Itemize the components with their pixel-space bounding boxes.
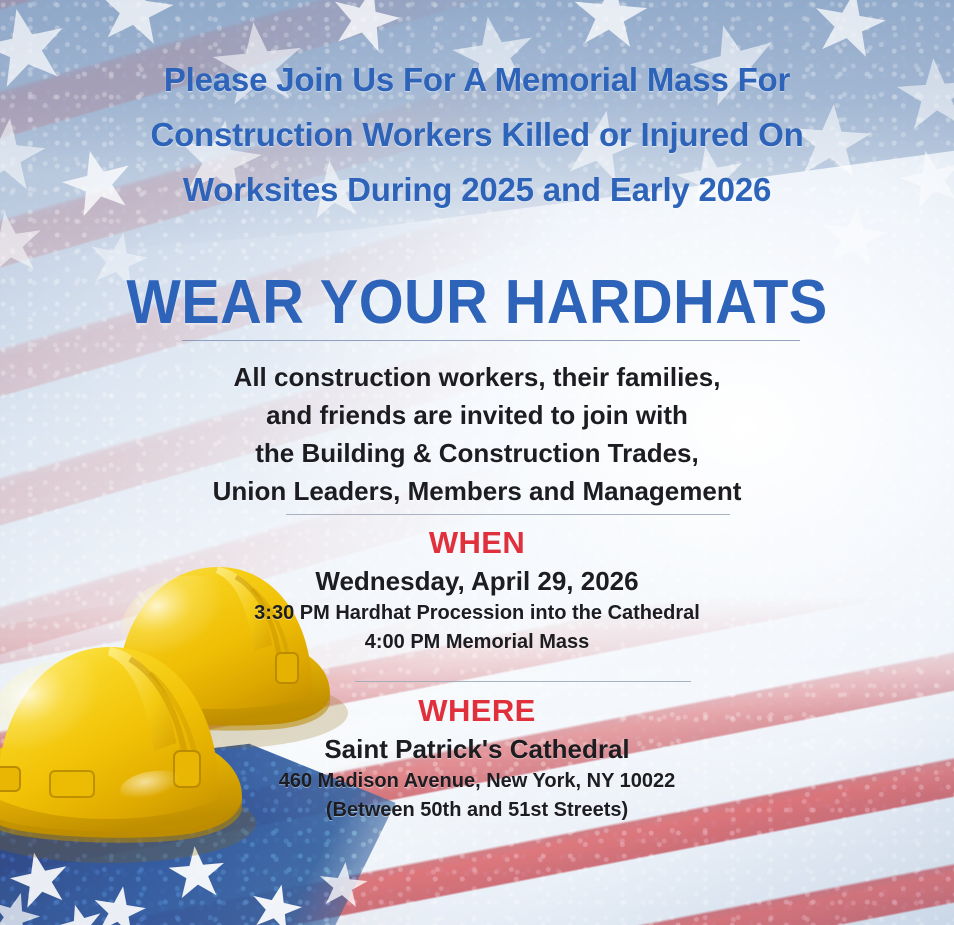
invitation-line-4: Union Leaders, Members and Management — [0, 472, 954, 510]
invitation-line-3: the Building & Construction Trades, — [0, 434, 954, 472]
poster-text-content: Please Join Us For A Memorial Mass For C… — [0, 0, 954, 925]
invitation-text: All construction workers, their families… — [0, 358, 954, 510]
divider-above-when — [286, 514, 730, 515]
big-title: WEAR YOUR HARDHATS — [33, 272, 920, 334]
where-section: WHERE Saint Patrick's Cathedral 460 Madi… — [0, 693, 954, 825]
where-detail-2: (Between 50th and 51st Streets) — [0, 796, 954, 825]
memorial-mass-poster: Please Join Us For A Memorial Mass For C… — [0, 0, 954, 925]
when-detail-2: 4:00 PM Memorial Mass — [0, 628, 954, 657]
divider-above-where — [355, 681, 691, 682]
when-detail-1: 3:30 PM Hardhat Procession into the Cath… — [0, 599, 954, 628]
where-detail-1: 460 Madison Avenue, New York, NY 10022 — [0, 767, 954, 796]
when-label: WHEN — [0, 525, 954, 561]
divider-under-title — [182, 340, 800, 341]
headline: Please Join Us For A Memorial Mass For C… — [0, 52, 954, 217]
when-section: WHEN Wednesday, April 29, 2026 3:30 PM H… — [0, 525, 954, 657]
headline-line-3: Worksites During 2025 and Early 2026 — [0, 162, 954, 217]
headline-line-2: Construction Workers Killed or Injured O… — [0, 107, 954, 162]
where-label: WHERE — [0, 693, 954, 729]
where-venue: Saint Patrick's Cathedral — [0, 731, 954, 767]
when-date: Wednesday, April 29, 2026 — [0, 563, 954, 599]
invitation-line-1: All construction workers, their families… — [0, 358, 954, 396]
invitation-line-2: and friends are invited to join with — [0, 396, 954, 434]
headline-line-1: Please Join Us For A Memorial Mass For — [0, 52, 954, 107]
